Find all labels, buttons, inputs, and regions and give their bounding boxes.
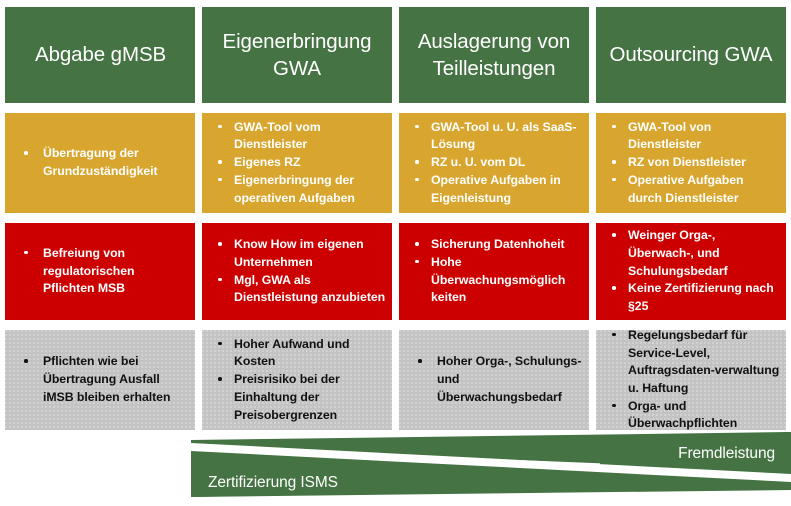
bullet-dot-icon bbox=[612, 233, 616, 237]
bullet-list: Übertragung der Grundzuständigkeit bbox=[5, 113, 195, 213]
cell-gold-eigenerbringung-gwa[interactable]: GWA-Tool vom Dienstleister Eigenes RZ Ei… bbox=[202, 113, 392, 213]
bullet-dot-icon bbox=[415, 160, 419, 164]
bullet-dot-icon bbox=[218, 178, 222, 182]
bullet-dot-icon bbox=[218, 160, 222, 164]
list-item-label: Hoher Orga-, Schulungs- und Überwachungs… bbox=[437, 354, 581, 403]
list-item: Pflichten wie bei Übertragung Ausfall iM… bbox=[5, 353, 195, 406]
list-item-label: Keine Zertifizierung nach §25 bbox=[628, 281, 774, 313]
bullet-dot-icon bbox=[612, 286, 616, 290]
list-item-label: GWA-Tool u. U. als SaaS-Lösung bbox=[431, 120, 576, 152]
bullet-list: Befreiung von regulatorischen Pflichten … bbox=[5, 223, 195, 320]
list-item: Keine Zertifizierung nach §25 bbox=[596, 280, 786, 315]
list-item: Mgl, GWA als Dienstleistung anzubieten bbox=[202, 272, 392, 307]
list-item: Hoher Orga-, Schulungs- und Überwachungs… bbox=[399, 353, 589, 406]
bullet-list: Know How im eigenen Unternehmen Mgl, GWA… bbox=[202, 223, 392, 320]
list-item-label: Know How im eigenen Unternehmen bbox=[234, 237, 364, 269]
list-item: Hohe Überwachungsmöglich keiten bbox=[399, 254, 589, 307]
list-item-label: Regelungsbedarf für Service-Level, Auftr… bbox=[628, 330, 779, 395]
list-item-label: Operative Aufgaben in Eigenleistung bbox=[431, 173, 561, 205]
list-item: Übertragung der Grundzuständigkeit bbox=[5, 145, 195, 180]
list-item-label: Pflichten wie bei Übertragung Ausfall iM… bbox=[43, 354, 170, 403]
column-header-label: Abgabe gMSB bbox=[15, 41, 185, 68]
list-item: Know How im eigenen Unternehmen bbox=[202, 236, 392, 271]
list-item-label: Weinger Orga-, Überwach-, und Schulungsb… bbox=[628, 228, 728, 277]
bullet-dot-icon bbox=[612, 404, 616, 408]
list-item-label: Orga- und Überwachpflichten bbox=[628, 399, 737, 430]
cell-gold-auslagerung[interactable]: GWA-Tool u. U. als SaaS-Lösung RZ u. U. … bbox=[399, 113, 589, 213]
list-item-label: Hoher Aufwand und Kosten bbox=[234, 337, 350, 369]
cell-gray-eigenerbringung-gwa[interactable]: Hoher Aufwand und Kosten Preisrisiko bei… bbox=[202, 330, 392, 430]
cell-red-auslagerung[interactable]: Sicherung Datenhoheit Hohe Überwachungsm… bbox=[399, 223, 589, 320]
cell-gray-abgabe-gmsb[interactable]: Pflichten wie bei Übertragung Ausfall iM… bbox=[5, 330, 195, 430]
bullet-dot-icon bbox=[24, 359, 28, 363]
column-header-label: Eigenerbringung GWA bbox=[212, 28, 382, 82]
cell-red-abgabe-gmsb[interactable]: Befreiung von regulatorischen Pflichten … bbox=[5, 223, 195, 320]
bullet-dot-icon bbox=[24, 151, 28, 155]
bullet-list: Hoher Aufwand und Kosten Preisrisiko bei… bbox=[202, 330, 392, 430]
list-item: GWA-Tool vom Dienstleister bbox=[202, 119, 392, 154]
list-item: GWA-Tool u. U. als SaaS-Lösung bbox=[399, 119, 589, 154]
bullet-list: Sicherung Datenhoheit Hohe Überwachungsm… bbox=[399, 223, 589, 320]
bullet-dot-icon bbox=[612, 125, 616, 129]
list-item: RZ von Dienstleister bbox=[596, 154, 786, 172]
list-item-label: GWA-Tool vom Dienstleister bbox=[234, 120, 321, 152]
list-item-label: Übertragung der Grundzuständigkeit bbox=[43, 146, 158, 178]
column-header-label: Auslagerung von Teilleistungen bbox=[409, 28, 579, 82]
list-item-label: Hohe Überwachungsmöglich keiten bbox=[431, 255, 565, 304]
list-item: Befreiung von regulatorischen Pflichten … bbox=[5, 245, 195, 298]
bullet-list: Regelungsbedarf für Service-Level, Auftr… bbox=[596, 330, 786, 430]
bullet-dot-icon bbox=[218, 125, 222, 129]
list-item: GWA-Tool von Dienstleister bbox=[596, 119, 786, 154]
bullet-dot-icon bbox=[612, 333, 616, 337]
bullet-dot-icon bbox=[218, 278, 222, 282]
bullet-dot-icon bbox=[612, 178, 616, 182]
column-header-outsourcing-gwa[interactable]: Outsourcing GWA bbox=[596, 7, 786, 103]
bullet-list: GWA-Tool von Dienstleister RZ von Dienst… bbox=[596, 113, 786, 213]
banner-wedges-graphic bbox=[0, 430, 791, 506]
list-item: RZ u. U. vom DL bbox=[399, 154, 589, 172]
banner-label-fremdleistung: Fremdleistung bbox=[678, 446, 775, 462]
cell-gray-outsourcing-gwa[interactable]: Regelungsbedarf für Service-Level, Auftr… bbox=[596, 330, 786, 430]
bullet-dot-icon bbox=[415, 260, 419, 264]
list-item: Regelungsbedarf für Service-Level, Auftr… bbox=[596, 330, 786, 398]
column-header-label: Outsourcing GWA bbox=[610, 41, 773, 68]
list-item-label: Preisrisiko bei der Einhaltung der Preis… bbox=[234, 372, 340, 421]
matrix-grid: Abgabe gMSB Eigenerbringung GWA Auslager… bbox=[5, 7, 786, 430]
bullet-dot-icon bbox=[415, 242, 419, 246]
list-item: Eigenerbringung der operativen Aufgaben bbox=[202, 172, 392, 207]
list-item-label: Eigenerbringung der operativen Aufgaben bbox=[234, 173, 355, 205]
column-header-eigenerbringung-gwa[interactable]: Eigenerbringung GWA bbox=[202, 7, 392, 103]
bullet-dot-icon bbox=[415, 178, 419, 182]
bullet-list: GWA-Tool u. U. als SaaS-Lösung RZ u. U. … bbox=[399, 113, 589, 213]
list-item-label: Eigenes RZ bbox=[234, 155, 300, 169]
bottom-banner: Fremdleistung Zertifizierung ISMS bbox=[0, 430, 791, 506]
column-header-abgabe-gmsb[interactable]: Abgabe gMSB bbox=[5, 7, 195, 103]
list-item-label: RZ von Dienstleister bbox=[628, 155, 746, 169]
list-item-label: Sicherung Datenhoheit bbox=[431, 237, 565, 251]
list-item: Operative Aufgaben in Eigenleistung bbox=[399, 172, 589, 207]
column-header-auslagerung[interactable]: Auslagerung von Teilleistungen bbox=[399, 7, 589, 103]
list-item: Operative Aufgaben durch Dienstleister bbox=[596, 172, 786, 207]
bullet-list: Pflichten wie bei Übertragung Ausfall iM… bbox=[5, 330, 195, 430]
list-item: Weinger Orga-, Überwach-, und Schulungsb… bbox=[596, 227, 786, 280]
bullet-dot-icon bbox=[24, 251, 28, 255]
bullet-dot-icon bbox=[612, 160, 616, 164]
list-item: Eigenes RZ bbox=[202, 154, 392, 172]
list-item: Sicherung Datenhoheit bbox=[399, 236, 589, 254]
bullet-dot-icon bbox=[418, 359, 422, 363]
cell-red-eigenerbringung-gwa[interactable]: Know How im eigenen Unternehmen Mgl, GWA… bbox=[202, 223, 392, 320]
list-item: Orga- und Überwachpflichten bbox=[596, 398, 786, 430]
bullet-dot-icon bbox=[218, 342, 222, 346]
list-item: Preisrisiko bei der Einhaltung der Preis… bbox=[202, 371, 392, 424]
list-item-label: Operative Aufgaben durch Dienstleister bbox=[628, 173, 744, 205]
list-item-label: Befreiung von regulatorischen Pflichten … bbox=[43, 246, 135, 295]
bullet-list: GWA-Tool vom Dienstleister Eigenes RZ Ei… bbox=[202, 113, 392, 213]
cell-red-outsourcing-gwa[interactable]: Weinger Orga-, Überwach-, und Schulungsb… bbox=[596, 223, 786, 320]
list-item-label: Mgl, GWA als Dienstleistung anzubieten bbox=[234, 273, 385, 305]
cell-gray-auslagerung[interactable]: Hoher Orga-, Schulungs- und Überwachungs… bbox=[399, 330, 589, 430]
cell-gold-outsourcing-gwa[interactable]: GWA-Tool von Dienstleister RZ von Dienst… bbox=[596, 113, 786, 213]
cell-gold-abgabe-gmsb[interactable]: Übertragung der Grundzuständigkeit bbox=[5, 113, 195, 213]
bullet-list: Weinger Orga-, Überwach-, und Schulungsb… bbox=[596, 223, 786, 320]
comparison-matrix: Abgabe gMSB Eigenerbringung GWA Auslager… bbox=[0, 0, 791, 506]
bullet-list: Hoher Orga-, Schulungs- und Überwachungs… bbox=[399, 330, 589, 430]
banner-label-zertifizierung-isms: Zertifizierung ISMS bbox=[208, 475, 338, 491]
bullet-dot-icon bbox=[415, 125, 419, 129]
list-item: Hoher Aufwand und Kosten bbox=[202, 336, 392, 371]
list-item-label: RZ u. U. vom DL bbox=[431, 155, 525, 169]
bullet-dot-icon bbox=[218, 377, 222, 381]
bullet-dot-icon bbox=[218, 242, 222, 246]
list-item-label: GWA-Tool von Dienstleister bbox=[628, 120, 711, 152]
